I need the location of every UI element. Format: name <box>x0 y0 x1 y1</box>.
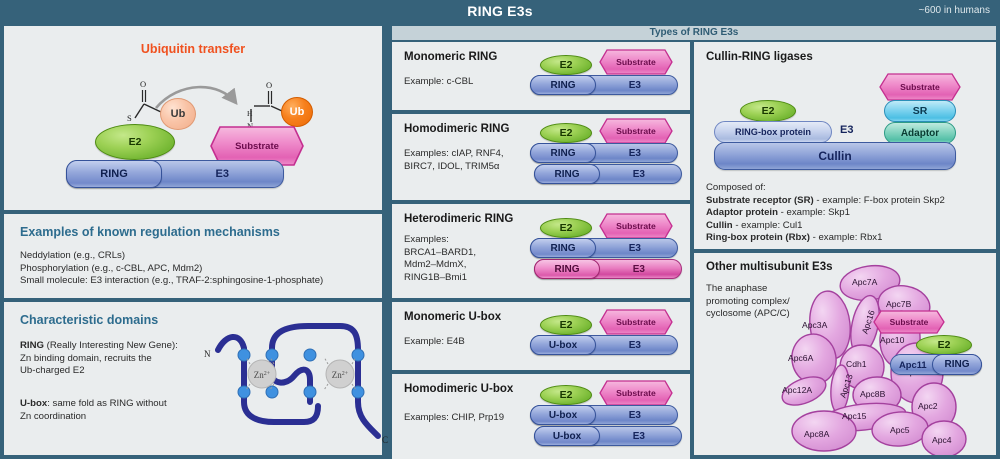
monomeric-ring-title: Monomeric RING <box>404 51 497 63</box>
substrate-hexagon: Substrate <box>600 381 672 405</box>
ubox-term-rest: : same fold as RING without <box>47 398 166 409</box>
ubox-domain-cap: U-box <box>530 405 596 425</box>
component-example: - example: Cul1 <box>733 220 803 231</box>
homodimeric-ubox-title: Homodimeric U-box <box>404 383 513 395</box>
c-terminus-label: C <box>382 435 388 445</box>
apcc-subunit-label: Apc2 <box>918 401 938 411</box>
homodimeric-ring-example: BIRC7, IDOL, TRIM5α <box>404 161 504 174</box>
monomeric-ubox-title: Monomeric U-box <box>404 311 501 323</box>
e2-enzyme: E2 <box>540 218 592 238</box>
apcc-subunit-label: Apc8A <box>804 429 829 439</box>
ring-term-rest: (Really Interesting New Gene): <box>44 340 178 351</box>
panel-homodimeric-ubox: Homodimeric U-box Examples: CHIP, Prp19 … <box>392 374 690 459</box>
panel-heterodimeric-ring: Heterodimeric RING Examples: BRCA1–BARD1… <box>392 204 690 298</box>
ring-domain-cap: RING <box>530 143 596 163</box>
e3-label: E3 <box>840 124 853 136</box>
heterodimeric-ring-example: Examples: <box>404 234 476 247</box>
sulfur-label: S <box>127 113 132 123</box>
ring-domain-cap: RING <box>530 238 596 258</box>
cullin-bar: Cullin <box>714 142 956 170</box>
ring-desc-line: Zn binding domain, recruits the <box>20 353 230 366</box>
substrate-hexagon: Substrate <box>600 119 672 143</box>
apcc-subunit-label: Apc13 <box>838 373 855 399</box>
component-name: Cullin <box>706 220 733 231</box>
composed-of-label: Composed of: <box>706 182 945 195</box>
figure-header: RING E3s ~600 in humans <box>0 0 1000 22</box>
types-banner: Types of RING E3s <box>392 26 996 40</box>
ubiquitin-acceptor: Ub <box>281 97 313 127</box>
apcc-subunit-label: Apc10 <box>880 335 904 345</box>
apcc-subunit-label: Apc12A <box>782 385 812 395</box>
e2-enzyme: E2 <box>916 335 972 355</box>
monomeric-ubox-example: Example: E4B <box>404 336 465 349</box>
regulation-title: Examples of known regulation mechanisms <box>20 225 280 239</box>
ring-domain-cap: RING <box>932 354 982 375</box>
apcc-subunit-label: Apc4 <box>932 435 952 445</box>
adaptor-protein: Adaptor <box>884 122 956 144</box>
monomeric-ring-example: Example: c-CBL <box>404 76 473 89</box>
apcc-subunit-label: Apc6A <box>788 353 813 363</box>
heterodimeric-ring-example: Mdm2–MdmX, <box>404 259 476 272</box>
e2-enzyme: E2 <box>540 55 592 75</box>
component-example: - example: F-box protein Skp2 <box>814 195 945 206</box>
ubox-domain-cap: U-box <box>530 335 596 355</box>
e2-enzyme: E2 <box>540 385 592 405</box>
homodimeric-ring-title: Homodimeric RING <box>404 123 509 135</box>
component-example: - example: Rbx1 <box>810 232 883 243</box>
apcc-subunit-label: Apc7A <box>852 277 877 287</box>
substrate-hexagon: Substrate <box>600 214 672 238</box>
e2-enzyme: E2 <box>740 100 796 122</box>
ring-domain-cap-partner: RING <box>534 259 600 279</box>
panel-multisubunit-e3s: Other multisubunit E3s The anaphase prom… <box>694 253 996 455</box>
ring-domain-cap: RING <box>534 164 600 184</box>
ring-domain-cap: RING <box>530 75 596 95</box>
substrate-hexagon: Substrate <box>880 74 960 100</box>
heterodimeric-ring-example: RING1B–Bmi1 <box>404 272 476 285</box>
ring-domain-cap: RING <box>66 160 162 188</box>
acceptor-oxygen-label: O <box>266 80 272 90</box>
substrate-hexagon: Substrate <box>874 311 944 333</box>
e2-enzyme: E2 <box>95 124 175 160</box>
component-name: Substrate receptor (SR) <box>706 195 814 206</box>
ring-term: RING <box>20 340 44 351</box>
ubox-desc-line: Zn coordination <box>20 411 230 424</box>
component-name: Ring-box protein (Rbx) <box>706 232 810 243</box>
regulation-item: Small molecule: E3 interaction (e.g., TR… <box>20 275 323 288</box>
panel-ubiquitin-transfer: Ubiquitin transfer <box>4 26 382 210</box>
ring-desc-line: Ub-charged E2 <box>20 365 230 378</box>
donor-oxygen-label: O <box>140 79 146 89</box>
panel-homodimeric-ring: Homodimeric RING Examples: cIAP, RNF4, B… <box>392 114 690 200</box>
n-terminus-label: N <box>204 349 211 359</box>
panel-cullin-ring-ligases: Cullin-RING ligases Substrate SR Adaptor… <box>694 42 996 249</box>
domains-title: Characteristic domains <box>20 313 158 327</box>
apcc-subunit-label: Apc3A <box>802 320 827 330</box>
right-column: Cullin-RING ligases Substrate SR Adaptor… <box>694 42 996 455</box>
panel-monomeric-ubox: Monomeric U-box Example: E4B E2 Substrat… <box>392 302 690 370</box>
header-count: ~600 in humans <box>919 5 990 16</box>
crl-title: Cullin-RING ligases <box>706 51 813 63</box>
middle-column: Monomeric RING Example: c-CBL E2 Substra… <box>392 42 690 455</box>
substrate-hexagon: Substrate <box>600 310 672 334</box>
heterodimeric-ring-example: BRCA1–BARD1, <box>404 247 476 260</box>
ubox-term: U-box <box>20 398 47 409</box>
apcc-subunit-label: Apc15 <box>842 411 866 421</box>
panel-regulation-mechanisms: Examples of known regulation mechanisms … <box>4 214 382 298</box>
substrate-receptor: SR <box>884 100 956 122</box>
ring-fold-diagram: Zn2+ Zn2+ <box>200 310 390 450</box>
panel-characteristic-domains: Characteristic domains RING (Really Inte… <box>4 302 382 455</box>
apcc-subunit-label: Cdh1 <box>846 359 867 369</box>
panel-monomeric-ring: Monomeric RING Example: c-CBL E2 Substra… <box>392 42 690 110</box>
homodimeric-ubox-example: Examples: CHIP, Prp19 <box>404 412 504 425</box>
ring-box-protein: RING-box protein <box>714 121 832 143</box>
ubox-domain-cap: U-box <box>534 426 600 446</box>
apcc-subunit-label: Apc8B <box>860 389 885 399</box>
heterodimeric-ring-title: Heterodimeric RING <box>404 213 513 225</box>
apcc-subunit-label: Apc5 <box>890 425 910 435</box>
homodimeric-ring-example: Examples: cIAP, RNF4, <box>404 148 504 161</box>
e2-enzyme: E2 <box>540 315 592 335</box>
apcc-subunit-label: Apc7B <box>886 299 911 309</box>
figure-root: RING E3s ~600 in humans Types of RING E3… <box>0 0 1000 459</box>
ubiquitin-donor: Ub <box>160 98 196 130</box>
regulation-item: Phosphorylation (e.g., c-CBL, APC, Mdm2) <box>20 263 323 276</box>
amide-hydrogen-label: H <box>247 109 252 118</box>
left-column: Ubiquitin transfer <box>4 26 382 455</box>
component-name: Adaptor protein <box>706 207 778 218</box>
substrate-hexagon: Substrate <box>600 50 672 74</box>
page-title: RING E3s <box>0 3 1000 19</box>
component-example: - example: Skp1 <box>778 207 850 218</box>
regulation-item: Neddylation (e.g., CRLs) <box>20 250 323 263</box>
e2-enzyme: E2 <box>540 123 592 143</box>
